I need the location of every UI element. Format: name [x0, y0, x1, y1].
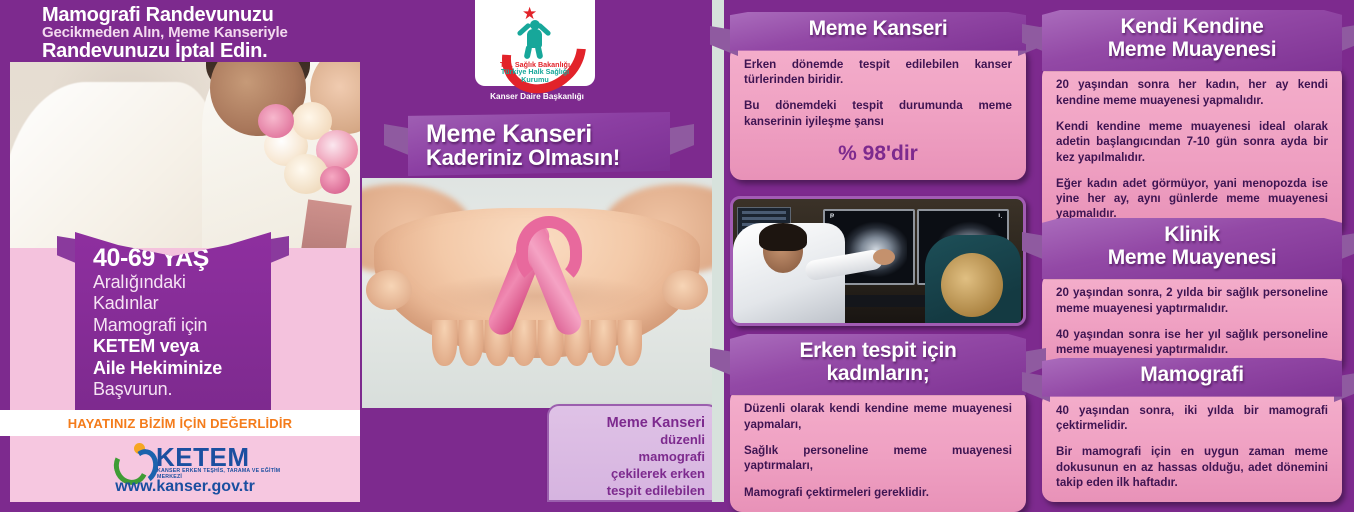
ministry-line2: Türkiye Halk Sağlığı Kurumu	[475, 68, 595, 85]
card-title: Meme Kanseri	[740, 18, 1016, 41]
card-title: Kendi Kendine Meme Muayenesi	[1052, 16, 1332, 61]
card-paragraph: 20 yaşından sonra, 2 yılda bir sağlık pe…	[1056, 285, 1328, 316]
age-callout-box: 40-69 YAŞ Aralığındaki Kadınlar Mamograf…	[75, 232, 271, 417]
card-mamografi: Mamografi 40 yaşından sonra, iki yılda b…	[1042, 358, 1342, 502]
card-paragraph: Mamografi çektirmeleri gereklidir.	[744, 485, 1012, 500]
doctor-mammogram-photo: R L	[730, 196, 1026, 326]
left-headline-line3: Randevunuzu İptal Edin.	[42, 40, 267, 63]
ministry-department: Kanser Daire Başkanlığı	[362, 92, 712, 101]
card-body: Erken dönemde tespit edilebilen kanser t…	[730, 45, 1026, 180]
left-headline-line2: Gecikmeden Alın, Meme Kanseriyle	[42, 24, 288, 41]
ketem-url[interactable]: www.kanser.gov.tr	[10, 478, 360, 496]
card-paragraph: Sağlık personeline meme muayenesi yaptır…	[744, 443, 1012, 474]
ketem-logo-band: KETEM KANSER ERKEN TEŞHİS, TARAMA VE EĞİ…	[10, 436, 360, 502]
photo-shape-thumb-left	[366, 270, 412, 310]
center-info-line4: çekilerek erken	[561, 466, 705, 483]
card-body: 40 yaşından sonra, iki yılda bir mamogra…	[1042, 391, 1342, 502]
card-meme-kanseri: Meme Kanseri Erken dönemde tespit edileb…	[730, 12, 1026, 180]
age-line-1: 40-69 YAŞ	[93, 246, 259, 272]
card-paragraph: Bu dönemdeki tespit durumunda meme kanse…	[744, 98, 1012, 129]
card-erken-tespit: Erken tespit için kadınların; Düzenli ol…	[730, 334, 1026, 512]
card-header: Klinik Meme Muayenesi	[1042, 218, 1342, 279]
right-panel: Meme Kanseri Erken dönemde tespit edileb…	[724, 0, 1354, 502]
card-title: Mamografi	[1052, 364, 1332, 387]
panel-divider	[712, 0, 724, 502]
card-paragraph: 40 yaşından sonra, iki yılda bir mamogra…	[1056, 403, 1328, 434]
photo-shape-thumb-right	[662, 270, 708, 310]
photo-shape-keyboard	[829, 295, 939, 307]
human-figure-icon	[519, 20, 549, 58]
card-title: Erken tespit için kadınların;	[740, 340, 1016, 385]
card-title: Klinik Meme Muayenesi	[1052, 224, 1332, 269]
card-paragraph: Erken dönemde tespit edilebilen kanser t…	[744, 57, 1012, 88]
card-header-body: Mamografi	[1042, 358, 1342, 397]
card-paragraph: Bir mamografi için en uygun zaman meme d…	[1056, 444, 1328, 490]
card-paragraph: Düzenli olarak kendi kendine meme muayen…	[744, 401, 1012, 432]
card-paragraph: Eğer kadın adet görmüyor, yani menopozda…	[1056, 176, 1328, 222]
age-line-7: Başvurun.	[93, 379, 259, 401]
center-info-box: Meme Kanseri düzenli mamografi çekilerek…	[547, 404, 712, 502]
infographic-poster: Mamografi Randevunuzu Gecikmeden Alın, M…	[0, 0, 1354, 502]
card-header-body: Kendi Kendine Meme Muayenesi	[1042, 10, 1342, 71]
card-paragraph: Kendi kendine meme muayenesi ideal olara…	[1056, 119, 1328, 165]
card-body: 20 yaşından sonra her kadın, her ay kend…	[1042, 65, 1342, 233]
card-header-body: Erken tespit için kadınların;	[730, 334, 1026, 395]
age-line-2: Aralığındaki	[93, 272, 259, 294]
card-highlight-percent: % 98'dir	[744, 140, 1012, 168]
card-header: Meme Kanseri	[730, 12, 1026, 51]
age-callout-body: 40-69 YAŞ Aralığındaki Kadınlar Mamograf…	[75, 232, 271, 417]
card-header: Erken tespit için kadınların;	[730, 334, 1026, 395]
card-body: 20 yaşından sonra, 2 yılda bir sağlık pe…	[1042, 273, 1342, 369]
center-info-line1: Meme Kanseri	[561, 414, 705, 432]
center-panel: T.C. Sağlık Bakanlığı Türkiye Halk Sağlı…	[362, 0, 712, 502]
card-body: Düzenli olarak kendi kendine meme muayen…	[730, 389, 1026, 511]
center-info-line3: mamografi	[561, 449, 705, 466]
card-header: Mamografi	[1042, 358, 1342, 397]
left-panel: Mamografi Randevunuzu Gecikmeden Alın, M…	[0, 0, 360, 502]
photo-shape-doctor-hand	[873, 249, 895, 265]
card-kendi-kendine: Kendi Kendine Meme Muayenesi 20 yaşından…	[1042, 10, 1342, 234]
card-header-body: Meme Kanseri	[730, 12, 1026, 51]
card-header: Kendi Kendine Meme Muayenesi	[1042, 10, 1342, 71]
slogan-strip: HAYATINIZ BİZİM İÇİN DEĞERLİDİR	[0, 410, 360, 436]
age-line-3: Kadınlar	[93, 293, 259, 315]
card-paragraph: 20 yaşından sonra her kadın, her ay kend…	[1056, 77, 1328, 108]
photo-shape-bouquet	[258, 96, 360, 216]
center-banner-line2: Kaderiniz Olmasın!	[426, 145, 620, 171]
photo-shape-patient	[925, 235, 1021, 326]
slogan-text: HAYATINIZ BİZİM İÇİN DEĞERLİDİR	[68, 416, 293, 431]
ketem-logo: KETEM KANSER ERKEN TEŞHİS, TARAMA VE EĞİ…	[110, 442, 290, 476]
age-line-5: KETEM veya	[93, 336, 259, 358]
card-header-body: Klinik Meme Muayenesi	[1042, 218, 1342, 279]
card-klinik: Klinik Meme Muayenesi 20 yaşından sonra,…	[1042, 218, 1342, 370]
age-line-4: Mamografi için	[93, 315, 259, 337]
age-line-6: Aile Hekiminize	[93, 358, 259, 380]
left-headline-block: Mamografi Randevunuzu Gecikmeden Alın, M…	[0, 0, 360, 62]
center-banner: Meme Kanseri Kaderiniz Olmasın!	[408, 112, 670, 176]
hands-ribbon-photo	[362, 178, 712, 408]
pink-ribbon-icon	[490, 220, 584, 338]
center-info-line5: tespit edilebilen	[561, 483, 705, 500]
ministry-logo-card: T.C. Sağlık Bakanlığı Türkiye Halk Sağlı…	[475, 0, 595, 86]
card-paragraph: 40 yaşından sonra ise her yıl sağlık per…	[1056, 327, 1328, 358]
center-info-line2: düzenli	[561, 432, 705, 449]
